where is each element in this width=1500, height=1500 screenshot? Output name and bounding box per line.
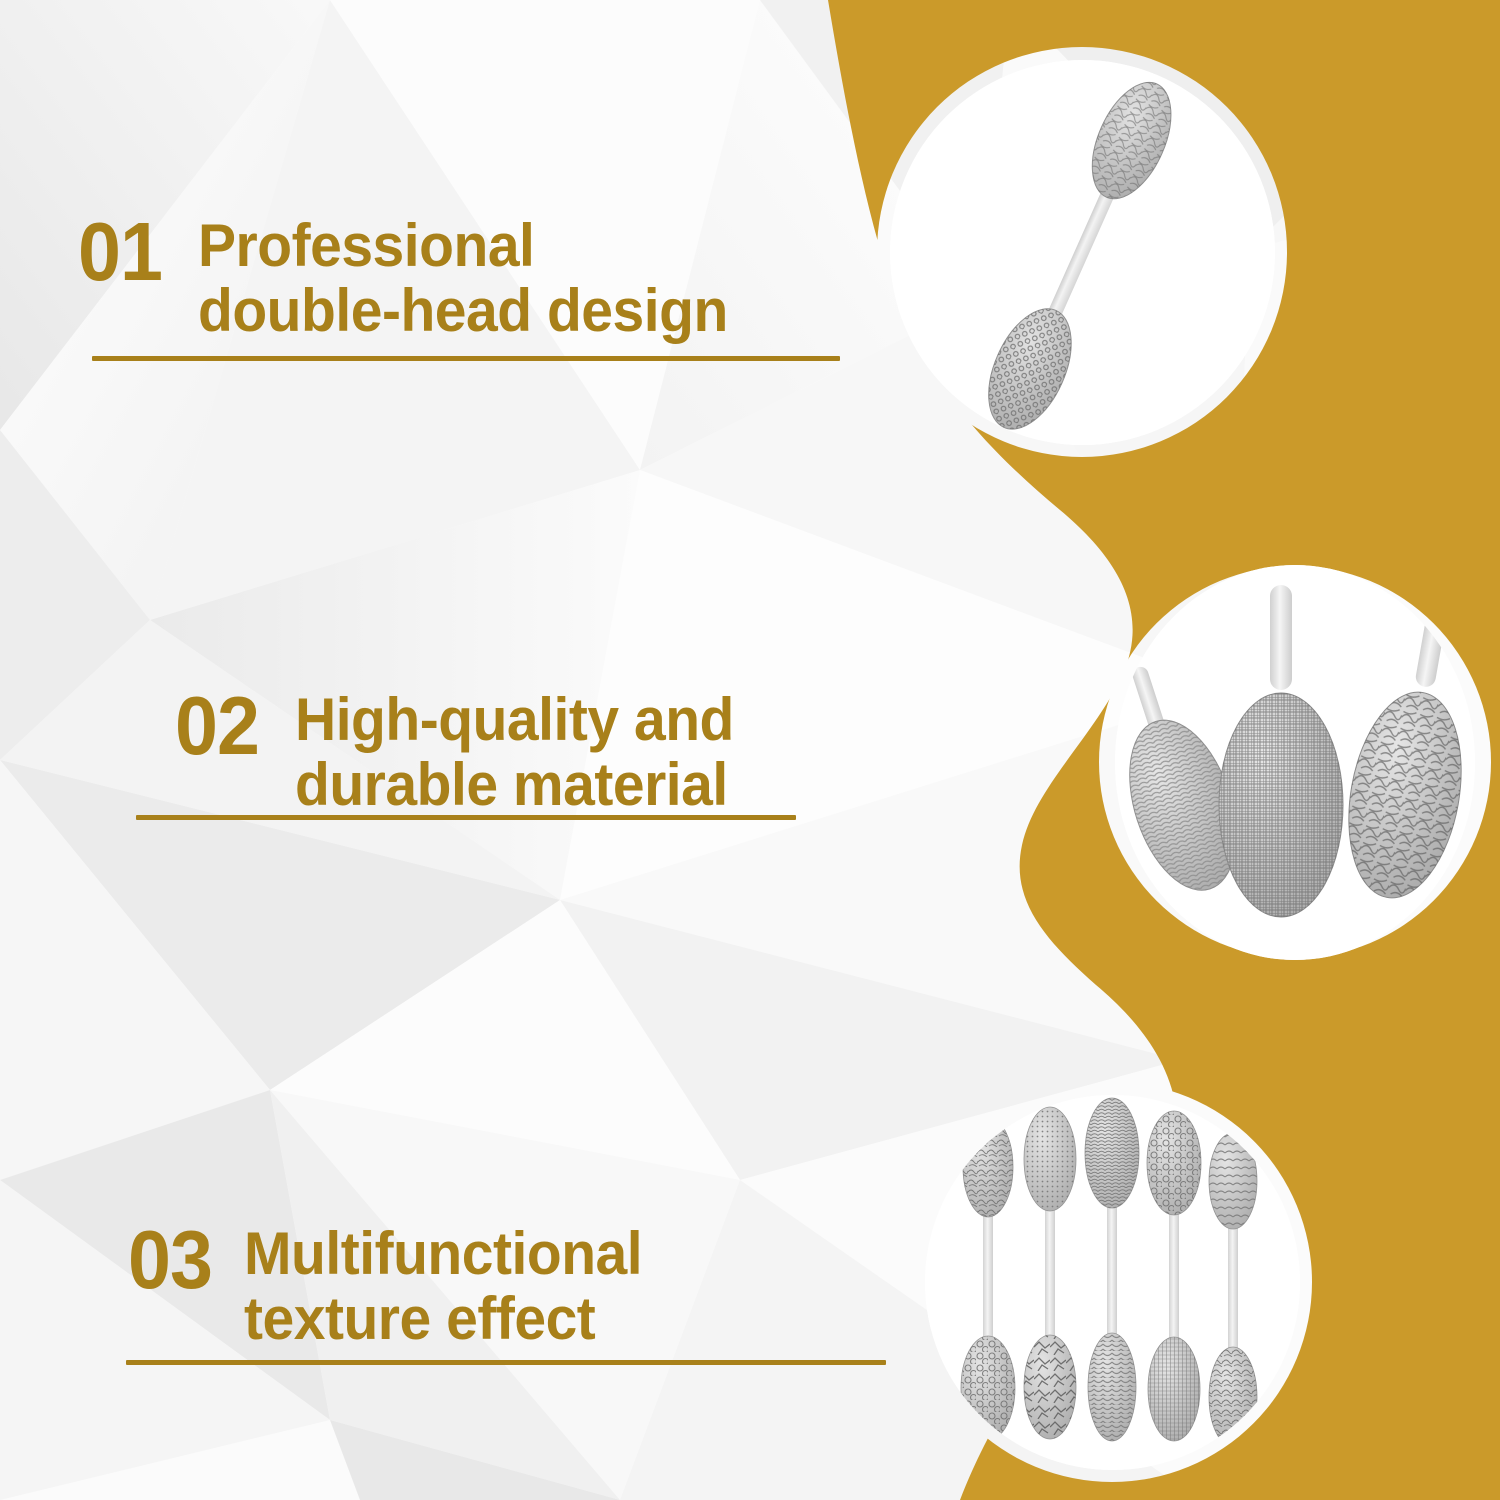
feature-title-03: Multifunctional texture effect <box>244 1222 642 1352</box>
feature-block-02: 02 High-quality and durable material <box>175 688 757 818</box>
feature-divider-02 <box>136 815 796 820</box>
feature-block-01: 01 Professional double-head design <box>78 214 756 344</box>
product-photo-full-set <box>925 1095 1300 1470</box>
feature-number-02: 02 <box>175 688 259 764</box>
product-photo-single-tool <box>890 60 1275 445</box>
feature-block-03: 03 Multifunctional texture effect <box>128 1222 663 1352</box>
feature-title-01: Professional double-head design <box>198 214 728 344</box>
feature-divider-03 <box>126 1360 886 1365</box>
feature-title-02: High-quality and durable material <box>295 688 734 818</box>
feature-number-01: 01 <box>78 214 162 290</box>
product-photo-closeup-heads <box>1115 565 1475 960</box>
infographic-canvas: 01 Professional double-head design 02 Hi… <box>0 0 1500 1500</box>
feature-number-03: 03 <box>128 1222 212 1298</box>
feature-divider-01 <box>92 356 840 361</box>
